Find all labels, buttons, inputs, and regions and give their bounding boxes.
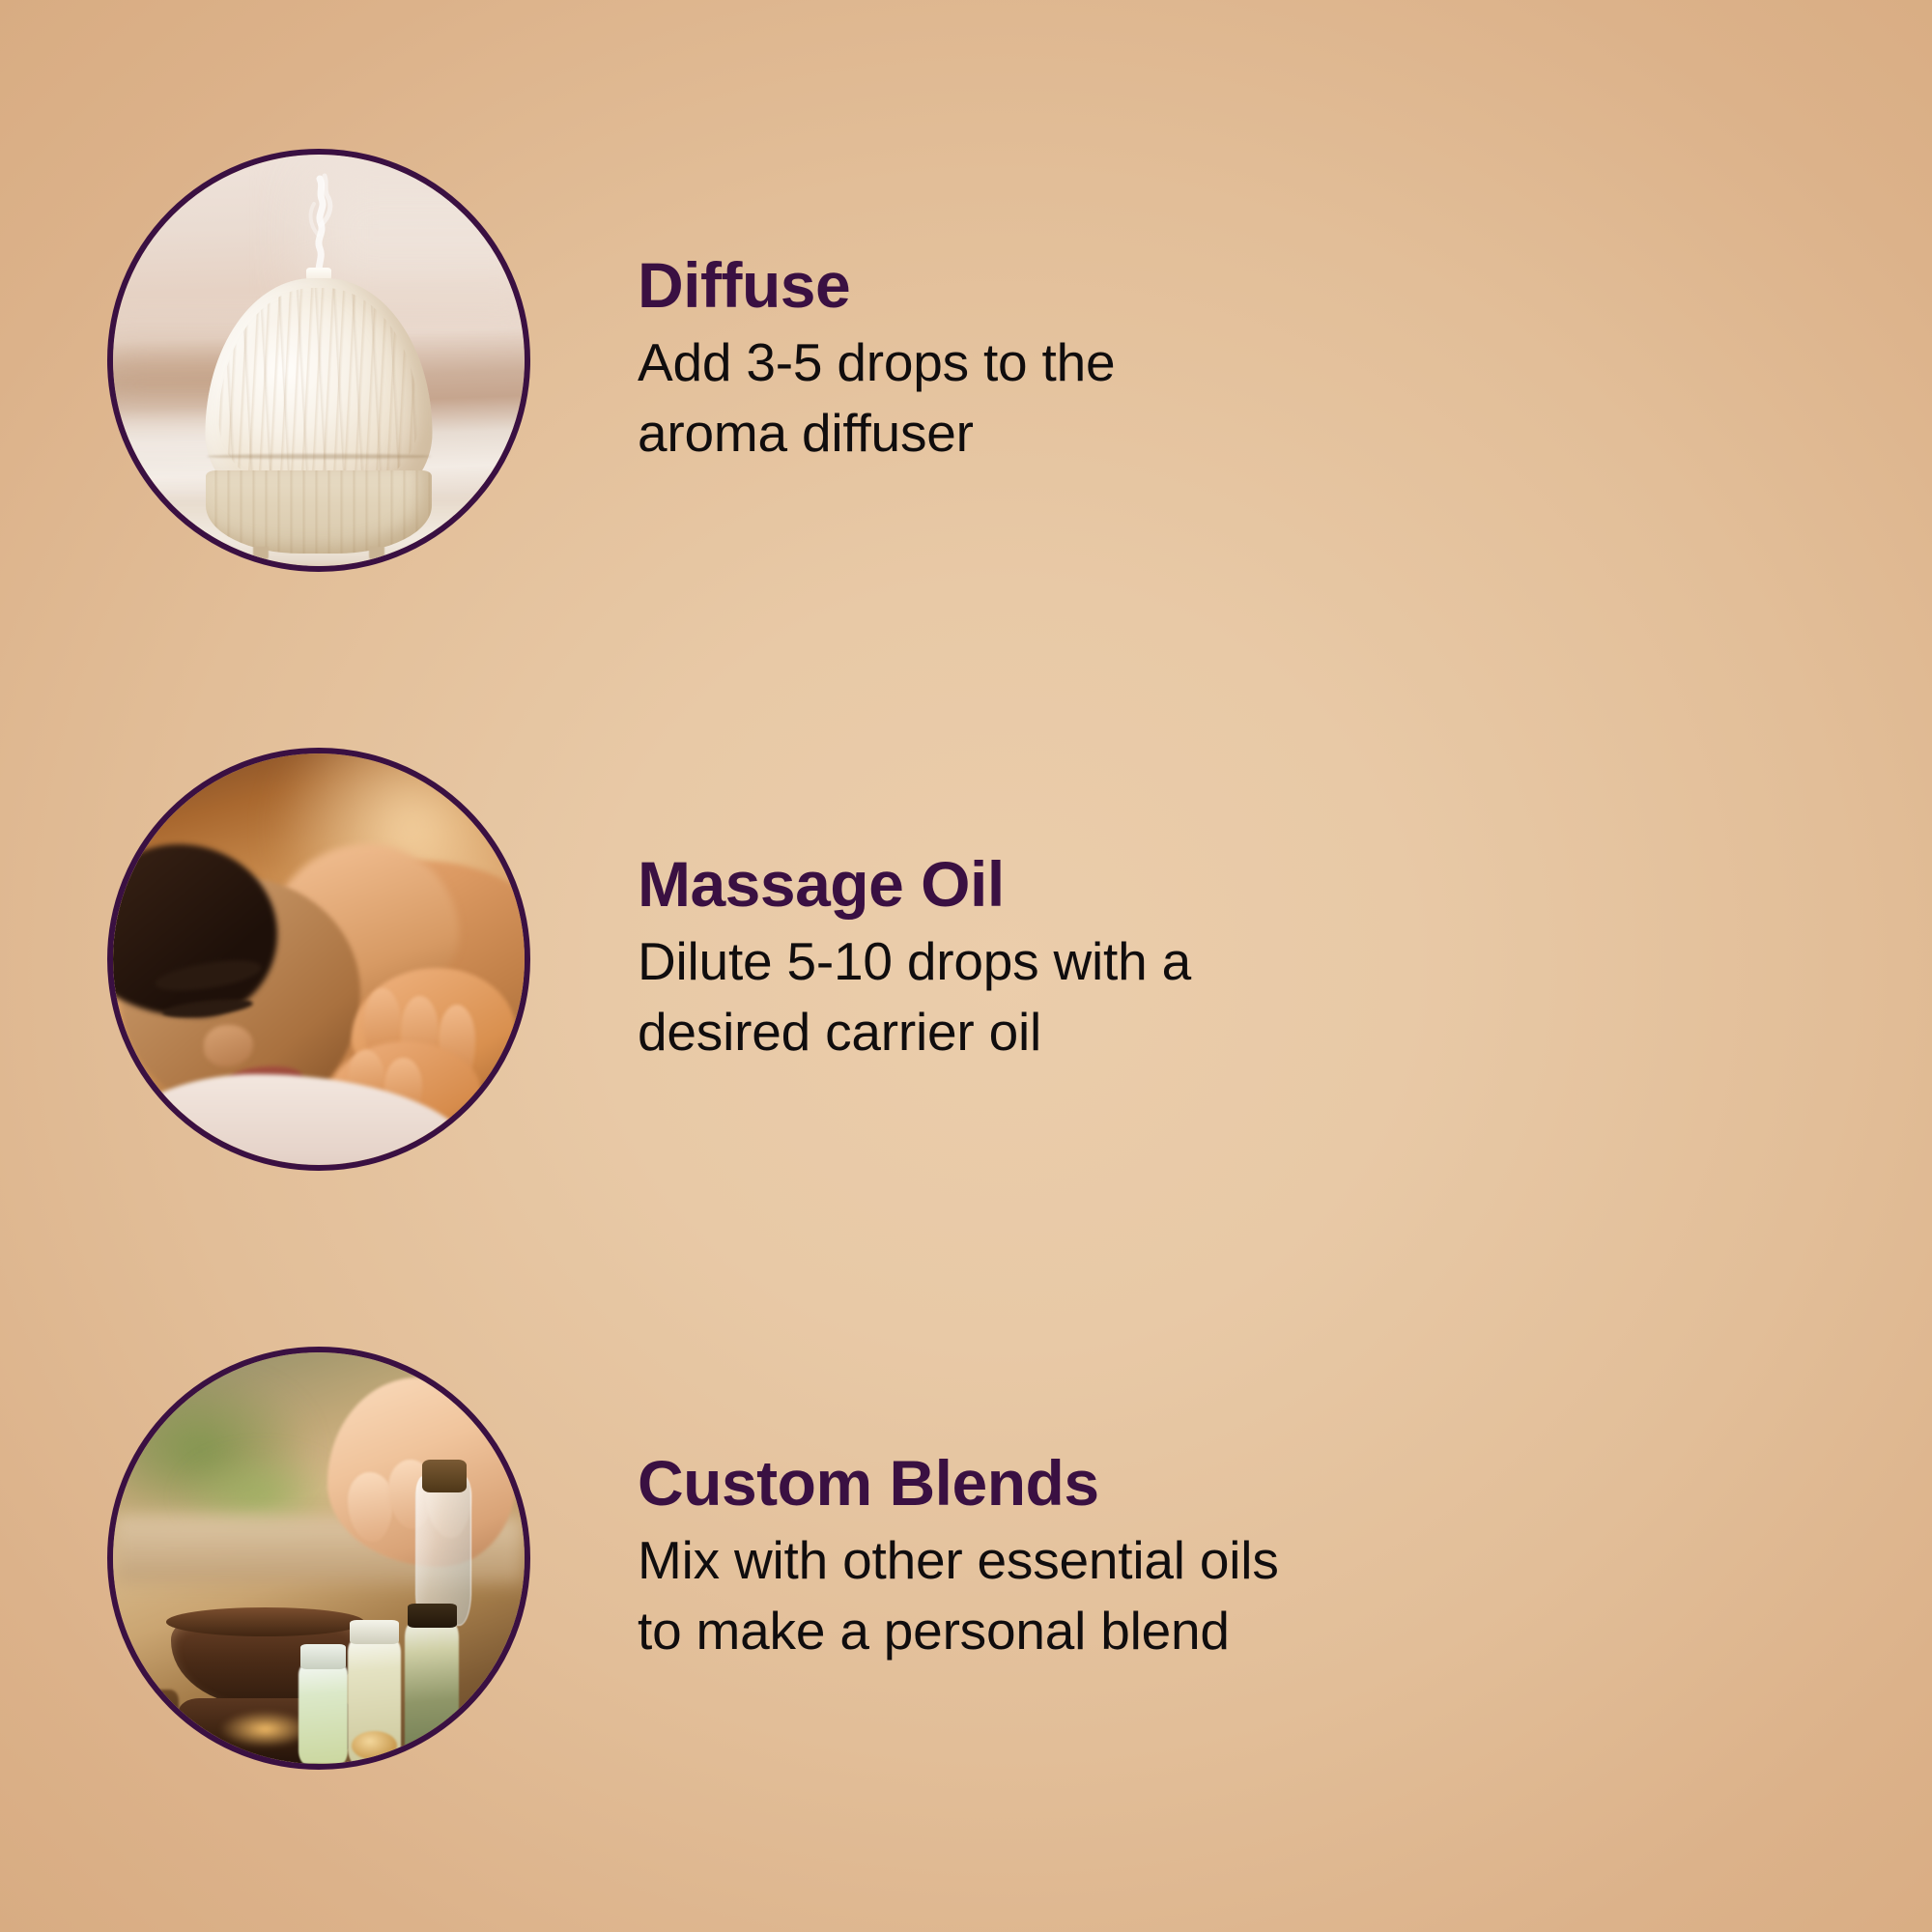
instruction-rows: Diffuse Add 3-5 drops to the aroma diffu… xyxy=(0,0,1932,1932)
massage-therapy-photo xyxy=(107,748,530,1171)
steam-icon xyxy=(285,167,353,283)
instruction-body-line: to make a personal blend xyxy=(638,1596,1604,1666)
essential-oil-bottle xyxy=(405,1624,458,1764)
instruction-copy: Massage Oil Dilute 5-10 drops with a des… xyxy=(638,851,1932,1066)
instruction-body-line: Dilute 5-10 drops with a xyxy=(638,926,1604,997)
instruction-row: Massage Oil Dilute 5-10 drops with a des… xyxy=(0,723,1932,1196)
amber-stone xyxy=(352,1731,397,1760)
instruction-heading: Diffuse xyxy=(638,252,1864,320)
cork-stopper xyxy=(138,1690,180,1739)
bottle-cap xyxy=(300,1644,346,1669)
diffuser-scene xyxy=(113,155,525,566)
instruction-row: Custom Blends Mix with other essential o… xyxy=(0,1321,1932,1795)
instruction-copy: Diffuse Add 3-5 drops to the aroma diffu… xyxy=(638,252,1932,468)
aroma-diffuser-photo xyxy=(107,149,530,572)
instruction-body-line: Add 3-5 drops to the xyxy=(638,327,1604,398)
instruction-body: Mix with other essential oils to make a … xyxy=(638,1525,1604,1665)
bottle-cap xyxy=(350,1620,399,1645)
usage-instructions-infographic: Diffuse Add 3-5 drops to the aroma diffu… xyxy=(0,0,1932,1932)
oil-burner-blending-photo xyxy=(107,1347,530,1770)
diffuser-foot xyxy=(369,547,384,560)
thumbnail-container xyxy=(0,149,638,572)
instruction-body: Add 3-5 drops to the aroma diffuser xyxy=(638,327,1604,468)
instruction-row: Diffuse Add 3-5 drops to the aroma diffu… xyxy=(0,124,1932,597)
essential-oil-bottle xyxy=(298,1665,348,1764)
bottle-cap xyxy=(408,1604,457,1629)
diffuser-base xyxy=(206,470,432,554)
diffuser-foot xyxy=(253,547,269,560)
instruction-heading: Custom Blends xyxy=(638,1450,1864,1518)
burner-flame-glow xyxy=(220,1711,311,1747)
custom-blends-scene xyxy=(113,1352,525,1764)
instruction-heading: Massage Oil xyxy=(638,851,1864,919)
instruction-body-line: Mix with other essential oils xyxy=(638,1525,1604,1596)
thumbnail-container xyxy=(0,1347,638,1770)
instruction-body-line: aroma diffuser xyxy=(638,398,1604,469)
hair-shape xyxy=(113,844,277,1017)
oil-burner-rim xyxy=(166,1607,363,1636)
instruction-body: Dilute 5-10 drops with a desired carrier… xyxy=(638,926,1604,1066)
diffuser-seam xyxy=(207,454,431,459)
instruction-copy: Custom Blends Mix with other essential o… xyxy=(638,1450,1932,1665)
thumbnail-container xyxy=(0,748,638,1171)
vial-cork-cap xyxy=(422,1460,468,1492)
massage-scene xyxy=(113,753,525,1165)
instruction-body-line: desired carrier oil xyxy=(638,997,1604,1067)
